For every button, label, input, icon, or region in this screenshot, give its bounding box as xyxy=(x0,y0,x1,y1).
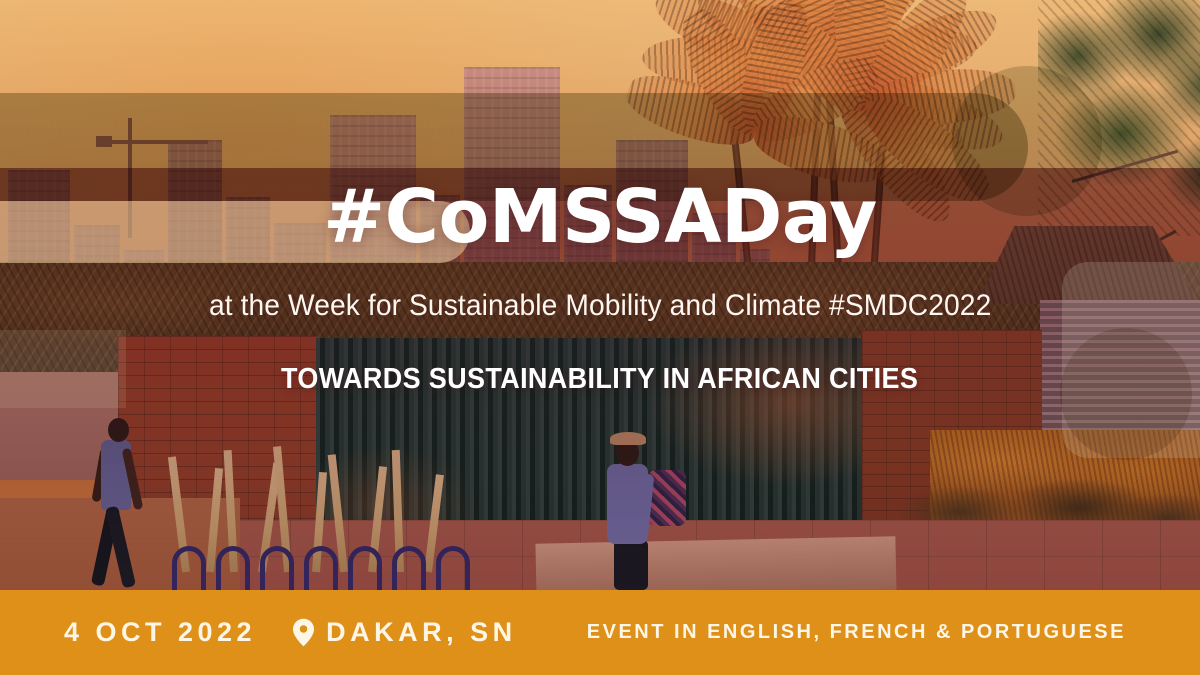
footer-bar: 4 OCT 2022 DAKAR, SN EVENT IN ENGLISH, F… xyxy=(0,590,1200,675)
event-city: DAKAR, SN xyxy=(326,617,517,648)
event-tagline: TOWARDS SUSTAINABILITY IN AFRICAN CITIES xyxy=(281,364,918,396)
banner-copy: #CoMSSADay at the Week for Sustainable M… xyxy=(0,0,1200,590)
event-location: DAKAR, SN xyxy=(292,617,517,648)
event-date: 4 OCT 2022 xyxy=(64,617,256,648)
event-languages: EVENT IN ENGLISH, FRENCH & PORTUGUESE xyxy=(587,621,1136,644)
event-banner: #CoMSSADay at the Week for Sustainable M… xyxy=(0,0,1200,675)
map-pin-icon xyxy=(292,618,315,647)
event-subtitle: at the Week for Sustainable Mobility and… xyxy=(209,288,991,323)
event-hashtag-headline: #CoMSSADay xyxy=(323,180,877,254)
